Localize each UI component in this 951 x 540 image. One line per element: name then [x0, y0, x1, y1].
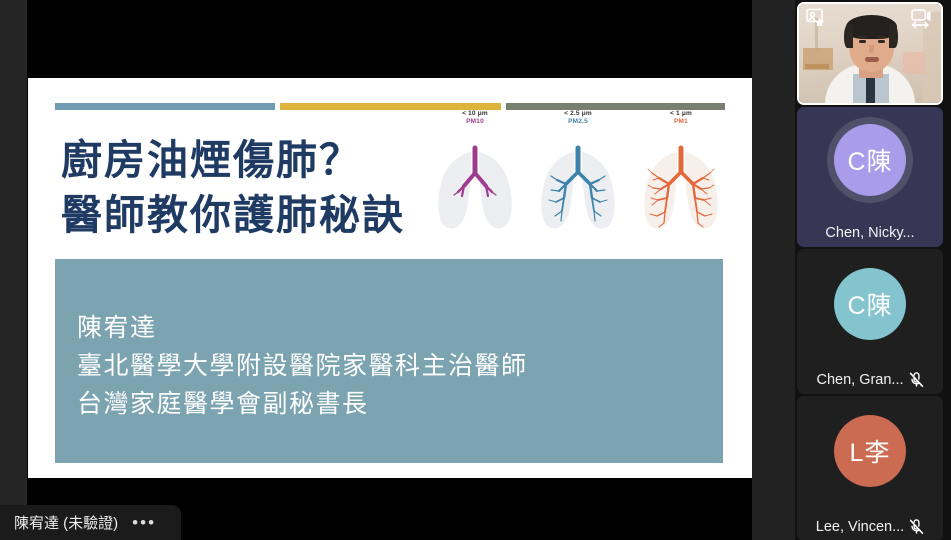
video-person-brow-right	[877, 36, 886, 38]
more-options-icon[interactable]: •••	[132, 514, 156, 531]
microphone-muted-icon	[909, 519, 924, 535]
lung-pm-label-pm10: PM10	[425, 118, 525, 125]
shared-screen-stage[interactable]: 廚房油煙傷肺？ 醫師教你護肺秘訣 < 10 μm PM10	[0, 0, 795, 540]
video-shelf-edge	[805, 64, 829, 69]
participant-label: Chen, Nicky...	[797, 225, 943, 241]
lung-size-label-pm1: < 1 μm	[631, 110, 731, 117]
accent-bar-yellow	[280, 103, 501, 110]
sharer-name-pill[interactable]: 陳宥達 (未驗證) •••	[0, 505, 181, 540]
accent-bar-blue	[55, 103, 275, 110]
participant-name: Chen, Gran...	[816, 372, 903, 388]
speaker-title-1: 臺北醫學大學附設醫院家醫科主治醫師	[77, 347, 528, 385]
avatar: C陳	[834, 268, 906, 340]
video-person-eye-left	[859, 40, 866, 43]
slide-title-line-2: 醫師教你護肺秘訣	[61, 188, 461, 243]
lung-infographic: < 10 μm PM10	[425, 110, 735, 250]
participant-tile-chen-nicky[interactable]: C陳 Chen, Nicky...	[797, 107, 943, 247]
video-person-brow-left	[858, 36, 867, 38]
speaker-credentials-box: 陳宥達 臺北醫學大學附設醫院家醫科主治醫師 台灣家庭醫學會副秘書長	[55, 259, 723, 463]
switch-camera-icon[interactable]	[909, 8, 933, 37]
video-lamp	[903, 52, 925, 74]
lung-pm-label-pm1: PM1	[631, 118, 731, 125]
lung-caption-pm1: < 1 μm PM1	[631, 110, 731, 125]
video-person-tie	[866, 76, 875, 103]
accent-bar-olive	[506, 103, 725, 110]
slide-title-line-1: 廚房油煙傷肺？	[61, 133, 461, 188]
accent-bar-group	[55, 103, 725, 110]
participant-name: Chen, Nicky...	[825, 225, 914, 241]
lung-size-label-pm10: < 10 μm	[425, 110, 525, 117]
lung-graphic-pm10	[432, 128, 518, 232]
participant-tile-chen-gran[interactable]: C陳 Chen, Gran...	[797, 249, 943, 394]
lung-caption-pm10: < 10 μm PM10	[425, 110, 525, 125]
slide-title: 廚房油煙傷肺？ 醫師教你護肺秘訣	[61, 133, 461, 242]
sharer-name-label: 陳宥達 (未驗證)	[14, 512, 118, 533]
lung-unit-pm25: < 2.5 μm PM2.5	[528, 110, 628, 250]
lung-pm-label-pm25: PM2.5	[528, 118, 628, 125]
video-person-hair-right	[889, 24, 898, 48]
video-person-mouth	[865, 57, 879, 62]
video-person-eye-right	[878, 40, 885, 43]
participant-name: Lee, Vincen...	[816, 519, 904, 535]
microphone-muted-icon	[909, 372, 924, 388]
participant-label: Lee, Vincen...	[797, 519, 943, 535]
zoom-meeting-window: 廚房油煙傷肺？ 醫師教你護肺秘訣 < 10 μm PM10	[0, 0, 951, 540]
active-speaker-video-tile[interactable]	[797, 2, 943, 105]
spotlight-star-icon[interactable]	[806, 8, 826, 31]
participant-tile-lee-vincent[interactable]: L李 Lee, Vincen...	[797, 396, 943, 540]
lung-graphic-pm25	[535, 128, 621, 232]
presentation-slide: 廚房油煙傷肺？ 醫師教你護肺秘訣 < 10 μm PM10	[28, 78, 752, 478]
lung-unit-pm1: < 1 μm PM1	[631, 110, 731, 250]
participant-filmstrip[interactable]: C陳 Chen, Nicky... C陳 Chen, Gran...	[795, 0, 951, 540]
video-person-nose	[869, 45, 874, 53]
lung-caption-pm25: < 2.5 μm PM2.5	[528, 110, 628, 125]
avatar: L李	[834, 415, 906, 487]
avatar: C陳	[834, 124, 906, 196]
video-person-hair-left	[844, 24, 853, 48]
stage-left-gutter	[0, 0, 27, 540]
lung-graphic-pm1	[638, 128, 724, 232]
speaker-credentials-text: 陳宥達 臺北醫學大學附設醫院家醫科主治醫師 台灣家庭醫學會副秘書長	[77, 309, 528, 423]
lung-unit-pm10: < 10 μm PM10	[425, 110, 525, 250]
lung-size-label-pm25: < 2.5 μm	[528, 110, 628, 117]
speaker-title-2: 台灣家庭醫學會副秘書長	[77, 385, 528, 423]
speaker-name: 陳宥達	[77, 309, 528, 347]
participant-label: Chen, Gran...	[797, 372, 943, 388]
